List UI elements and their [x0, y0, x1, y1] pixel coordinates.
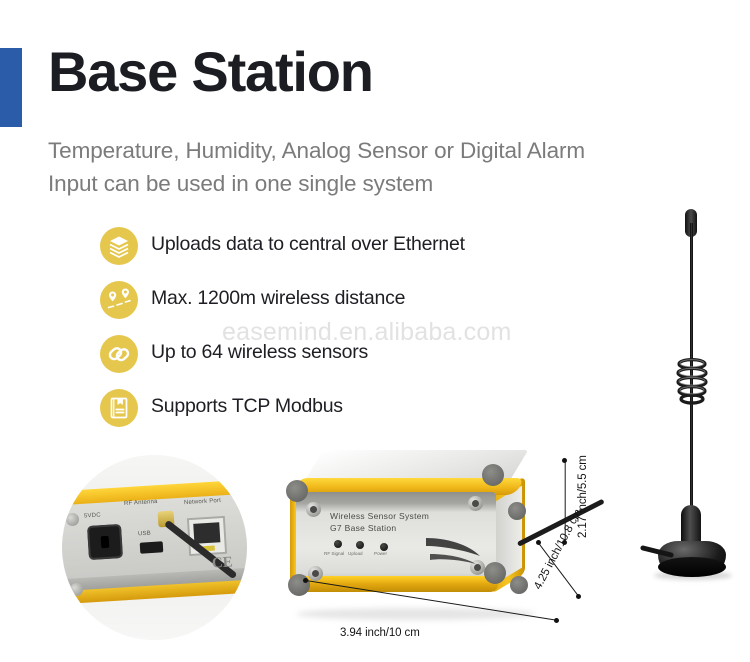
subtitle-line-1: Temperature, Humidity, Analog Sensor or …: [48, 134, 708, 167]
corner-foot: [508, 502, 526, 520]
panel-screw-icon: [468, 496, 483, 511]
inset-screw-icon: [70, 583, 83, 596]
device-label-line-2: G7 Base Station: [330, 522, 429, 534]
layers-icon: [100, 227, 138, 265]
brand-swoosh-logo: [424, 534, 484, 566]
led-label-power: Power: [374, 551, 387, 556]
panel-screw-icon: [308, 566, 323, 581]
feature-item-upload: Uploads data to central over Ethernet: [100, 227, 620, 281]
corner-foot: [288, 574, 310, 596]
led-label-rf-signal: RF Signal: [324, 551, 344, 556]
page-subtitle: Temperature, Humidity, Analog Sensor or …: [48, 134, 708, 200]
site-watermark: easemind.en.alibaba.com: [222, 318, 512, 347]
base-station-device: Wireless Sensor System G7 Base Station R…: [286, 450, 538, 620]
subtitle-line-2: Input can be used in one single system: [48, 167, 708, 200]
led-power: [380, 543, 388, 551]
led-label-upload: Upload: [348, 551, 363, 556]
dc-power-jack: [87, 524, 123, 560]
device-nameplate: Wireless Sensor System G7 Base Station: [330, 510, 429, 534]
product-photo: 5VDC USB RF Antenna Network Port CE Wire…: [0, 430, 750, 662]
inset-screw-icon: [66, 513, 79, 526]
led-rf-signal: [334, 540, 342, 548]
dimension-width-label: 3.94 inch/10 cm: [340, 627, 420, 639]
usb-port: [140, 541, 164, 553]
label-usb-port: USB: [138, 531, 151, 538]
label-power-port: 5VDC: [84, 512, 101, 519]
chain-link-icon: [100, 335, 138, 373]
device-label-line-1: Wireless Sensor System: [330, 510, 429, 522]
title-accent-bar: [0, 48, 22, 127]
manual-book-icon: [100, 389, 138, 427]
corner-foot: [482, 464, 504, 486]
ce-mark: CE: [212, 554, 234, 572]
led-upload: [356, 541, 364, 549]
map-pins-icon: [100, 281, 138, 319]
feature-label: Max. 1200m wireless distance: [151, 287, 405, 310]
antenna-coil: [672, 357, 712, 405]
whip-antenna: [640, 205, 750, 605]
feature-label: Uploads data to central over Ethernet: [151, 233, 465, 256]
feature-label: Supports TCP Modbus: [151, 395, 343, 418]
corner-foot: [484, 562, 506, 584]
page-title: Base Station: [48, 44, 373, 100]
dimension-height-label: 2.17 inch/5.5 cm: [577, 455, 589, 538]
corner-foot: [510, 576, 528, 594]
panel-screw-icon: [306, 502, 321, 517]
port-closeup-inset: 5VDC USB RF Antenna Network Port CE: [62, 455, 247, 640]
corner-foot: [286, 480, 308, 502]
